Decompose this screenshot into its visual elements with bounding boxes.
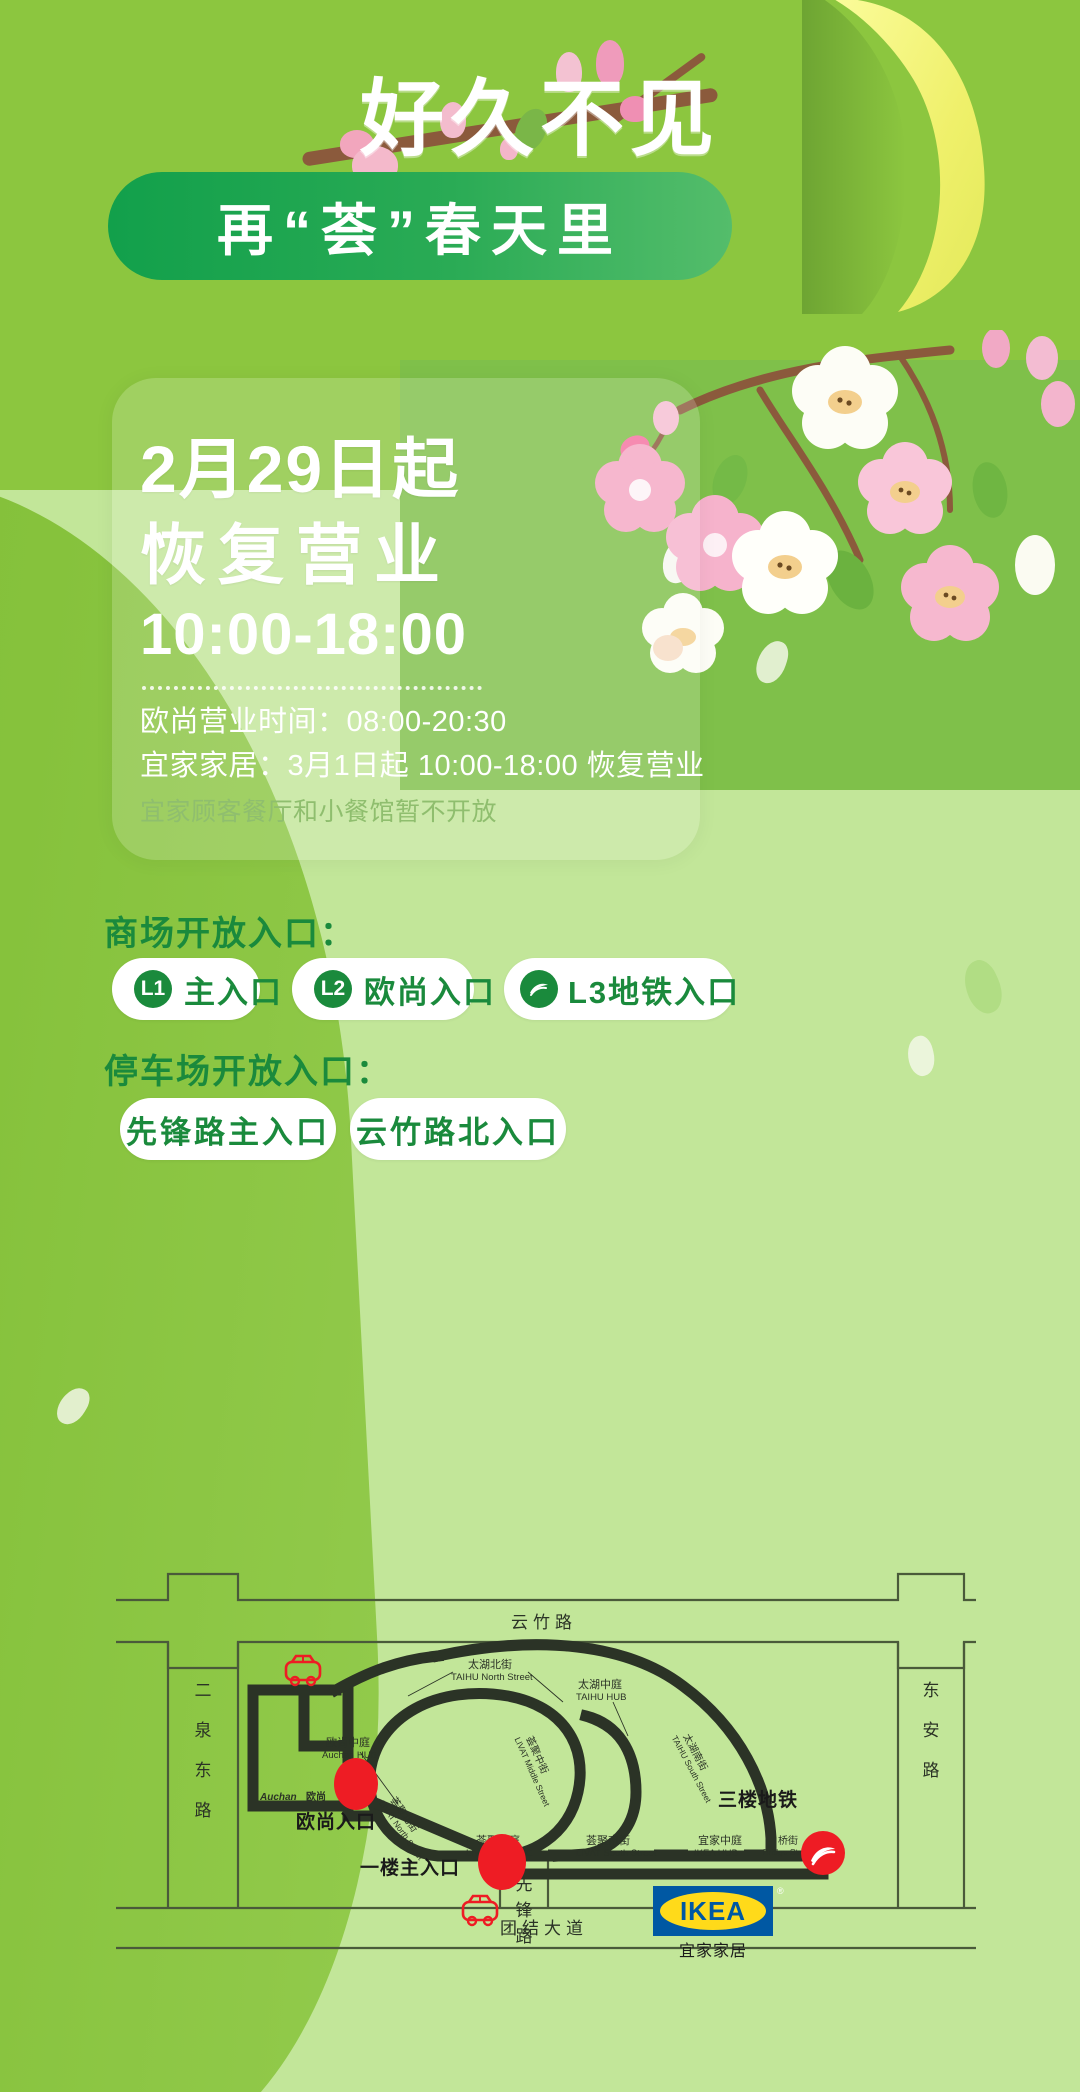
level-badge-icon: L1 [134, 970, 172, 1008]
mall-entrance-chip-l2[interactable]: L2 欧尚入口 [292, 958, 474, 1020]
svg-text:东: 东 [195, 1761, 212, 1780]
street-label-cn: 桥街 [778, 1834, 798, 1847]
location-map: Auchan 欧尚 太湖北街 TAIHU North Street 太湖中庭 T… [108, 1556, 980, 1976]
info-card-content: 2月29日起 恢复营业 10:00-18:00 欧尚营业时间：08:00-20:… [112, 378, 700, 860]
info-card: 2月29日起 恢复营业 10:00-18:00 欧尚营业时间：08:00-20:… [112, 378, 700, 860]
street-label-en: TAIHU HUB [576, 1692, 627, 1703]
reopen-label: 恢复营业 [140, 512, 700, 598]
map-road-west: 二 泉 东 路 [195, 1681, 212, 1820]
parking-car-icon [463, 1896, 497, 1925]
divider [142, 686, 482, 690]
street-label-cn: 太湖北街 [468, 1657, 512, 1671]
auchan-logo: Auchan 欧尚 [259, 1790, 326, 1803]
mall-entrance-chip-metro[interactable]: L3地铁入口 [504, 958, 734, 1020]
reopen-date: 2月29日起 [140, 426, 700, 512]
poster-root: 好久不见 再“荟”春天里 [0, 0, 1080, 2092]
mall-entrance-label: 主入口 [184, 967, 283, 1012]
ikea-logo-caption: 宜家家居 [679, 1942, 747, 1960]
map-marker-main-entrance[interactable] [478, 1834, 526, 1890]
mall-entrance-label: L3地铁入口 [568, 967, 740, 1012]
svg-text:安: 安 [923, 1721, 940, 1740]
svg-text:路: 路 [923, 1761, 940, 1780]
street-label-cn: 太湖中庭 [578, 1677, 622, 1691]
street-label-en: TAIHU North Street [451, 1672, 533, 1683]
map-road-east: 东 安 路 [923, 1681, 940, 1780]
mall-entrances-title: 商场开放入口： [104, 906, 356, 955]
mall-entrance-chip-l1[interactable]: L1 主入口 [112, 958, 260, 1020]
reopen-hours: 10:00-18:00 [140, 598, 700, 672]
street-label-cn: 欧尚中庭 [326, 1735, 370, 1749]
svg-text:泉: 泉 [195, 1721, 212, 1740]
auchan-hours: 欧尚营业时间：08:00-20:30 [140, 700, 700, 744]
parking-entrances-title: 停车场开放入口： [104, 1044, 392, 1093]
map-marker-metro[interactable] [801, 1831, 845, 1875]
page-title: 好久不见 [0, 52, 1080, 173]
svg-text:东: 东 [923, 1681, 940, 1700]
map-label-main-entrance: 一楼主入口 [360, 1856, 460, 1879]
parking-entrance-label: 云竹路北入口 [356, 1107, 560, 1152]
metro-glyph-icon [526, 976, 552, 1002]
street-label-en: LIVAT South Street [576, 1848, 657, 1859]
parking-entrance-chip-xianfeng[interactable]: 先锋路主入口 [120, 1098, 336, 1160]
map-label-metro: 三楼地铁 [718, 1788, 798, 1811]
mall-entrance-label: 欧尚入口 [364, 967, 496, 1012]
parking-entrance-label: 先锋路主入口 [126, 1107, 330, 1152]
svg-text:Auchan: Auchan [259, 1792, 297, 1803]
svg-text:®: ® [777, 1886, 784, 1896]
header-title-block: 好久不见 [0, 34, 1080, 174]
parking-car-icon [286, 1656, 320, 1685]
map-road-north: 云竹路 [511, 1613, 577, 1632]
map-marker-auchan-entrance[interactable] [334, 1758, 378, 1810]
headline-pill: 再“荟”春天里 [108, 172, 732, 280]
parking-entrance-chip-yunzhu[interactable]: 云竹路北入口 [350, 1098, 566, 1160]
ikea-hours: 宜家家居：3月1日起 10:00-18:00 恢复营业 [140, 744, 700, 788]
metro-badge-icon [520, 970, 558, 1008]
map-svg: Auchan 欧尚 太湖北街 TAIHU North Street 太湖中庭 T… [108, 1556, 980, 1976]
map-road-inner-south: 先 锋 路 [516, 1875, 533, 1946]
svg-text:欧尚: 欧尚 [306, 1790, 326, 1803]
svg-text:二: 二 [195, 1681, 212, 1700]
svg-text:路: 路 [195, 1801, 212, 1820]
level-badge-icon: L2 [314, 970, 352, 1008]
svg-text:IKEA: IKEA [680, 1896, 746, 1926]
street-label-en: IKEA HUB [694, 1848, 738, 1859]
restaurant-note: 宜家顾客餐厅和小餐馆暂不开放 [140, 792, 700, 832]
street-label-cn: 荟聚南街 [586, 1833, 630, 1847]
map-label-auchan-entrance: 欧尚入口 [296, 1810, 376, 1833]
map-road-south: 团结大道 [500, 1919, 588, 1938]
street-label-cn: 宜家中庭 [698, 1833, 742, 1847]
svg-text:锋: 锋 [516, 1901, 533, 1920]
headline-text: 再“荟”春天里 [217, 186, 623, 267]
svg-text:路: 路 [516, 1927, 533, 1946]
